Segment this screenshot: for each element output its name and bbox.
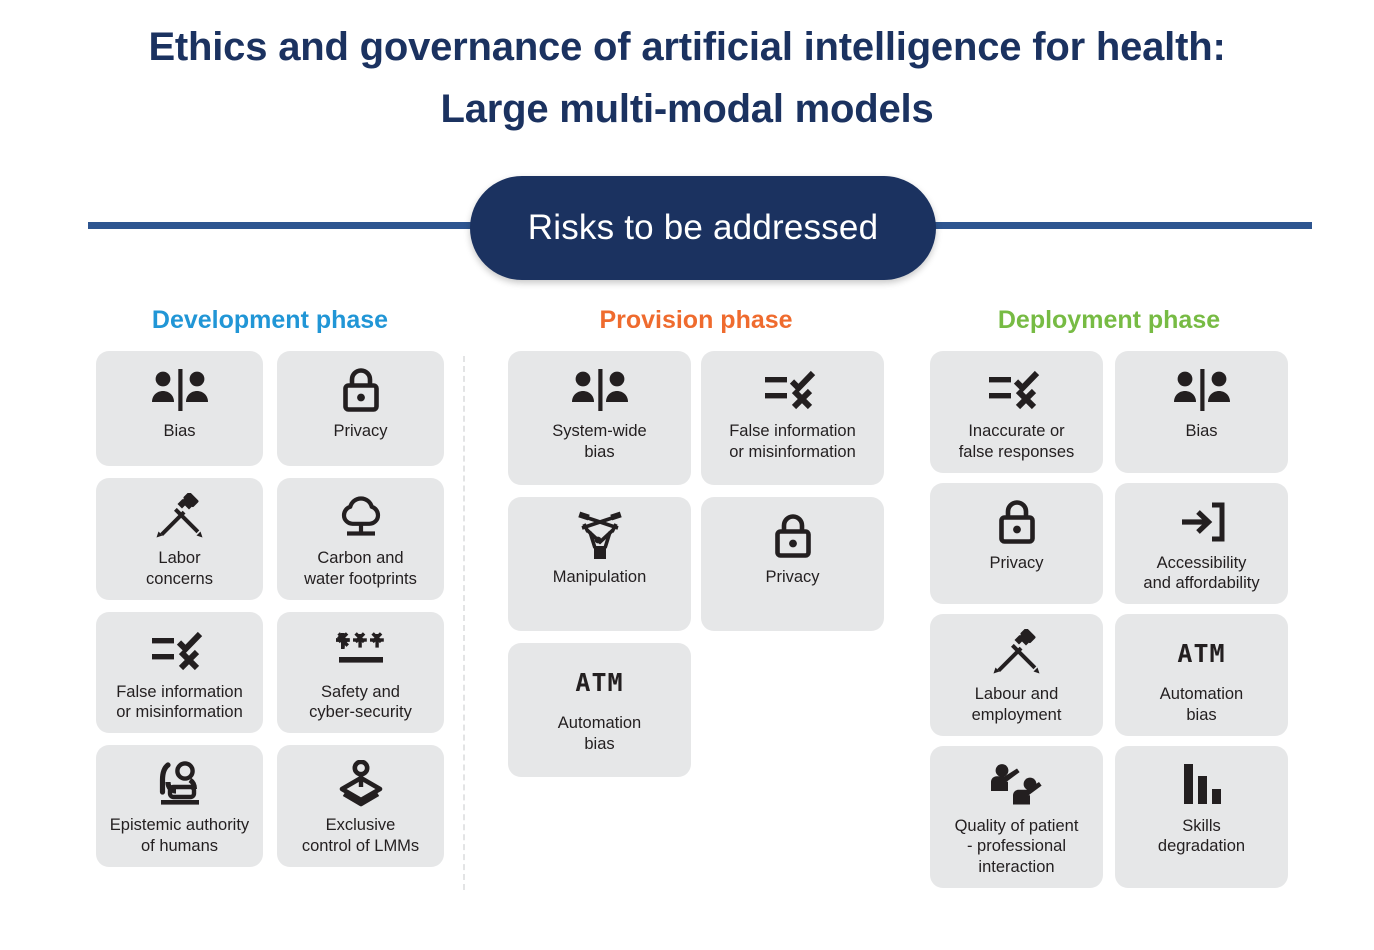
- infographic-root: Ethics and governance of artificial inte…: [0, 0, 1374, 950]
- risk-card-label: False information or misinformation: [729, 421, 856, 463]
- risk-card[interactable]: False information or misinformation: [701, 351, 884, 485]
- risk-card[interactable]: ATMAutomation bias: [508, 643, 691, 777]
- two-people-divided-icon: [1123, 365, 1280, 415]
- column-deployment: Deployment phase Inaccurate or false res…: [930, 306, 1288, 888]
- risk-card[interactable]: Epistemic authority of humans: [96, 745, 263, 867]
- risk-card-label: Privacy: [765, 567, 819, 588]
- atm-icon-text: ATM: [575, 668, 623, 697]
- two-people-divided-icon: [104, 365, 255, 415]
- column-provision: Provision phase System-wide bias False i…: [508, 306, 884, 777]
- joystick-layers-icon: [285, 759, 436, 809]
- risk-card-label: Carbon and water footprints: [304, 548, 417, 590]
- page-title-line-2: Large multi-modal models: [0, 78, 1374, 140]
- page-title-line-1: Ethics and governance of artificial inte…: [0, 16, 1374, 78]
- risk-card-label: Manipulation: [553, 567, 647, 588]
- column-development: Development phase Bias Privacy Labor co: [96, 306, 444, 867]
- risk-card-label: Inaccurate or false responses: [959, 421, 1075, 463]
- risk-card-label: Safety and cyber-security: [309, 682, 412, 724]
- arrow-into-bracket-icon: [1123, 497, 1280, 547]
- password-asterisks-icon: [285, 626, 436, 676]
- risk-card-label: Privacy: [333, 421, 387, 442]
- risk-card[interactable]: System-wide bias: [508, 351, 691, 485]
- risk-card-label: System-wide bias: [552, 421, 646, 463]
- risk-card-label: Labour and employment: [972, 684, 1062, 726]
- card-grid-provision: System-wide bias False information or mi…: [508, 351, 884, 777]
- risk-card-label: Privacy: [989, 553, 1043, 574]
- risk-card[interactable]: Privacy: [930, 483, 1103, 605]
- atm-icon-text: ATM: [1177, 639, 1225, 668]
- risk-card-label: Automation bias: [558, 713, 641, 755]
- risk-card[interactable]: Inaccurate or false responses: [930, 351, 1103, 473]
- check-cross-list-icon: [709, 365, 876, 415]
- risk-card-label: Exclusive control of LMMs: [302, 815, 419, 857]
- banner-label: Risks to be addressed: [528, 208, 879, 248]
- two-people-interacting-icon: [938, 760, 1095, 810]
- page-title: Ethics and governance of artificial inte…: [0, 16, 1374, 140]
- risk-card-label: Epistemic authority of humans: [110, 815, 249, 857]
- column-heading-development: Development phase: [96, 306, 444, 335]
- risk-card[interactable]: Accessibility and affordability: [1115, 483, 1288, 605]
- risk-card[interactable]: False information or misinformation: [96, 612, 263, 734]
- risk-card[interactable]: Safety and cyber-security: [277, 612, 444, 734]
- crossed-tools-icon: [938, 628, 1095, 678]
- padlock-icon: [709, 511, 876, 561]
- two-people-divided-icon: [516, 365, 683, 415]
- banner-rule-left: [88, 222, 483, 229]
- risk-card-label: Skills degradation: [1158, 816, 1245, 858]
- crossed-tools-icon: [104, 492, 255, 542]
- risk-card-label: Labor concerns: [146, 548, 213, 590]
- risk-card[interactable]: Bias: [96, 351, 263, 466]
- risk-card[interactable]: Labor concerns: [96, 478, 263, 600]
- risk-card-label: Automation bias: [1160, 684, 1243, 726]
- risk-card[interactable]: Exclusive control of LMMs: [277, 745, 444, 867]
- phase-columns: Development phase Bias Privacy Labor co: [0, 306, 1374, 906]
- atm-icon: ATM: [516, 657, 683, 707]
- card-grid-development: Bias Privacy Labor concerns Carbon and w…: [96, 351, 444, 867]
- atm-icon: ATM: [1123, 628, 1280, 678]
- banner-rule-right: [893, 222, 1312, 229]
- padlock-icon: [285, 365, 436, 415]
- column-heading-deployment: Deployment phase: [930, 306, 1288, 335]
- column-heading-provision: Provision phase: [508, 306, 884, 335]
- banner-pill: Risks to be addressed: [470, 176, 936, 280]
- risk-card[interactable]: ATMAutomation bias: [1115, 614, 1288, 736]
- puppet-marionette-icon: [516, 511, 683, 561]
- risk-card[interactable]: Labour and employment: [930, 614, 1103, 736]
- risk-card[interactable]: Bias: [1115, 351, 1288, 473]
- check-cross-list-icon: [104, 626, 255, 676]
- risk-card[interactable]: Privacy: [701, 497, 884, 631]
- risk-card-label: Quality of patient - professional intera…: [955, 816, 1079, 878]
- descending-bars-icon: [1123, 760, 1280, 810]
- card-grid-deployment: Inaccurate or false responses Bias Priva…: [930, 351, 1288, 888]
- check-cross-list-icon: [938, 365, 1095, 415]
- risk-card-label: Bias: [1185, 421, 1217, 442]
- risk-card-label: False information or misinformation: [116, 682, 243, 724]
- risk-card[interactable]: Quality of patient - professional intera…: [930, 746, 1103, 888]
- risk-card[interactable]: Privacy: [277, 351, 444, 466]
- risk-card[interactable]: Carbon and water footprints: [277, 478, 444, 600]
- risk-card[interactable]: Manipulation: [508, 497, 691, 631]
- risk-card[interactable]: Skills degradation: [1115, 746, 1288, 888]
- tree-icon: [285, 492, 436, 542]
- risk-card-label: Accessibility and affordability: [1143, 553, 1259, 595]
- person-at-desk-icon: [104, 759, 255, 809]
- risk-card-label: Bias: [163, 421, 195, 442]
- padlock-icon: [938, 497, 1095, 547]
